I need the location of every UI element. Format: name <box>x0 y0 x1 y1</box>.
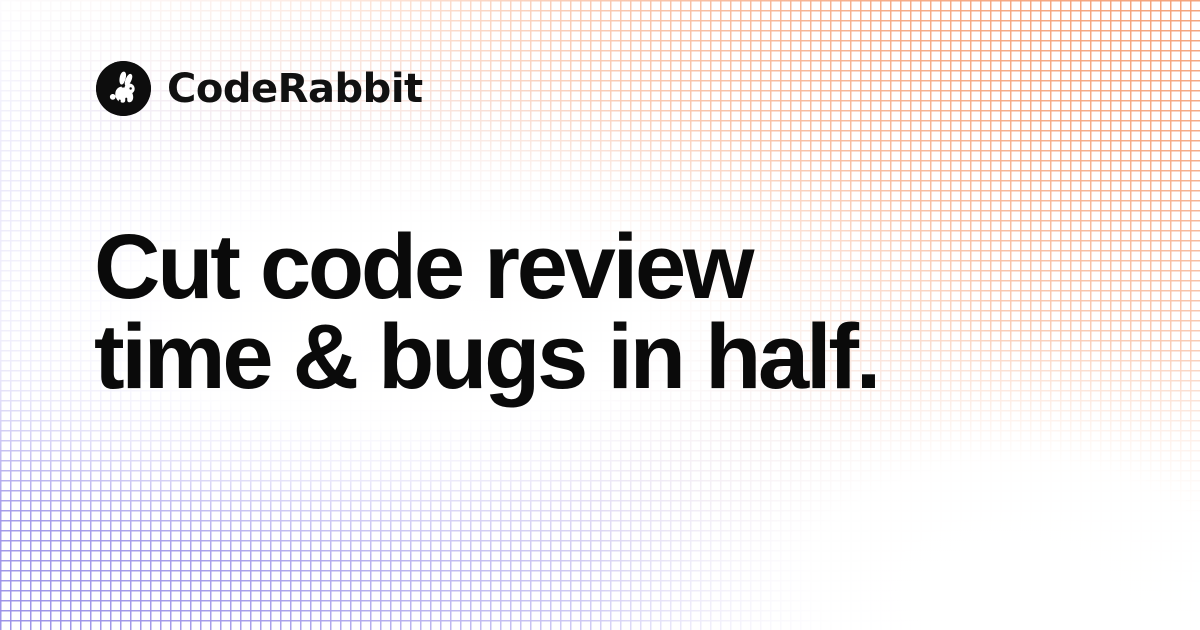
brand-wordmark: CodeRabbit <box>167 69 423 109</box>
rabbit-icon <box>96 61 151 116</box>
page-title: Cut code review time & bugs in half. <box>94 222 994 402</box>
og-share-card: CodeRabbit Cut code review time & bugs i… <box>0 0 1200 630</box>
card-content: CodeRabbit Cut code review time & bugs i… <box>0 0 1200 630</box>
headline-line-1: Cut code review <box>94 222 994 312</box>
brand-lockup: CodeRabbit <box>96 61 423 116</box>
headline-line-2: time & bugs in half. <box>94 312 994 402</box>
